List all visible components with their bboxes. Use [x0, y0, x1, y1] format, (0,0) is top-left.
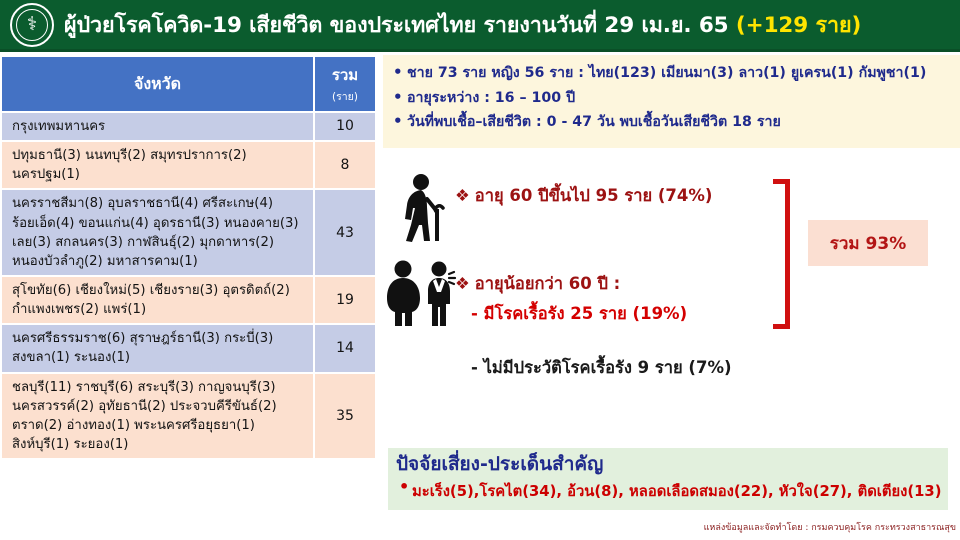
age-over-60-line: ❖อายุ 60 ปีขึ้นไป 95 ราย (74%) — [455, 183, 712, 209]
age-under-60-label: อายุน้อยกว่า 60 ปี : — [475, 274, 621, 293]
chronic-disease-line: - มีโรคเรื้อรัง 25 ราย (19%) — [471, 301, 687, 327]
demographics-summary-box: ชาย 73 ราย หญิง 56 ราย : ไทย(123) เมียนม… — [383, 55, 960, 148]
age-comorbidity-block: ❖อายุ 60 ปีขึ้นไป 95 ราย (74%) ❖อายุน้อย… — [383, 165, 960, 440]
page-header: ⚕ ผู้ป่วยโรคโควิด-19 เสียชีวิต ของประเทศ… — [0, 0, 960, 52]
grouping-bracket — [773, 179, 790, 329]
elderly-person-with-cane-icon — [391, 173, 449, 243]
moph-caduceus-logo-icon: ⚕ — [10, 3, 54, 47]
summary-bullet-sex-nationality: ชาย 73 ราย หญิง 56 ราย : ไทย(123) เมียนม… — [389, 63, 956, 84]
risk-factors-list: มะเร็ง(5),โรคไต(34), อ้วน(8), หลอดเลือดส… — [396, 479, 942, 503]
table-cell-total: 8 — [315, 142, 375, 188]
column-header-total: รวม (ราย) — [315, 57, 375, 111]
table-row: กรุงเทพมหานคร 10 — [2, 113, 375, 140]
right-panel: ชาย 73 ราย หญิง 56 ราย : ไทย(123) เมียนม… — [383, 55, 960, 540]
table-row: นครศรีธรรมราช(6) สุราษฎร์ธานี(3) กระบี่(… — [2, 325, 375, 371]
table-cell-provinces: นครราชสีมา(8) อุบลราชธานี(4) ศรีสะเกษ(4)… — [2, 190, 313, 275]
table-cell-provinces: สุโขทัย(6) เชียงใหม่(5) เชียงราย(3) อุตร… — [2, 277, 313, 323]
table-cell-total: 43 — [315, 190, 375, 275]
source-credit: แหล่งข้อมูลและจัดทำโดย : กรมควบคุมโรค กร… — [383, 520, 956, 534]
table-cell-total: 14 — [315, 325, 375, 371]
no-chronic-disease-line: - ไม่มีประวัติโรคเรื้อรัง 9 ราย (7%) — [471, 355, 732, 381]
table-header-row: จังหวัด รวม (ราย) — [2, 57, 375, 111]
page-title-delta-count: (+129 ราย) — [736, 13, 861, 38]
risk-factors-panel: ปัจจัยเสี่ยง-ประเด็นสำคัญ มะเร็ง(5),โรคไ… — [388, 448, 948, 510]
table-cell-provinces: ชลบุรี(11) ราชบุรี(6) สระบุรี(3) กาญจนบุ… — [2, 374, 313, 459]
risk-factors-item: มะเร็ง(5),โรคไต(34), อ้วน(8), หลอดเลือดส… — [396, 479, 942, 503]
obese-and-coughing-person-icon — [383, 260, 463, 328]
table-cell-total: 19 — [315, 277, 375, 323]
page-title-main: ผู้ป่วยโรคโควิด-19 เสียชีวิต ของประเทศไท… — [64, 13, 736, 38]
table-cell-total: 10 — [315, 113, 375, 140]
age-over-60-label: อายุ 60 ปีขึ้นไป 95 ราย (74%) — [475, 186, 713, 205]
age-under-60-line: ❖อายุน้อยกว่า 60 ปี : — [455, 271, 620, 297]
table-cell-provinces: นครศรีธรรมราช(6) สุราษฎร์ธานี(3) กระบี่(… — [2, 325, 313, 371]
column-header-province-label: จังหวัด — [134, 74, 181, 93]
risk-factors-heading: ปัจจัยเสี่ยง-ประเด็นสำคัญ — [396, 453, 942, 476]
table-cell-provinces: ปทุมธานี(3) นนทบุรี(2) สมุทรปราการ(2) นค… — [2, 142, 313, 188]
table-row: ปทุมธานี(3) นนทบุรี(2) สมุทรปราการ(2) นค… — [2, 142, 375, 188]
column-header-total-unit: (ราย) — [317, 88, 373, 105]
combined-total-box: รวม 93% — [808, 220, 928, 266]
diamond-bullet-icon: ❖ — [455, 186, 470, 205]
combined-total-label: รวม 93% — [830, 230, 907, 257]
province-death-table: จังหวัด รวม (ราย) กรุงเทพมหานคร 10 ปทุมธ… — [0, 55, 377, 460]
demographics-summary-list: ชาย 73 ราย หญิง 56 ราย : ไทย(123) เมียนม… — [389, 63, 956, 133]
column-header-total-label: รวม — [332, 66, 358, 84]
table-cell-provinces: กรุงเทพมหานคร — [2, 113, 313, 140]
table-cell-total: 35 — [315, 374, 375, 459]
summary-bullet-infection-to-death: วันที่พบเชื้อ–เสียชีวิต : 0 - 47 วัน พบเ… — [389, 112, 956, 133]
summary-bullet-age-range: อายุระหว่าง : 16 – 100 ปี — [389, 88, 956, 109]
table-row: ชลบุรี(11) ราชบุรี(6) สระบุรี(3) กาญจนบุ… — [2, 374, 375, 459]
table-row: สุโขทัย(6) เชียงใหม่(5) เชียงราย(3) อุตร… — [2, 277, 375, 323]
diamond-bullet-icon: ❖ — [455, 274, 470, 293]
table-row: นครราชสีมา(8) อุบลราชธานี(4) ศรีสะเกษ(4)… — [2, 190, 375, 275]
page-title: ผู้ป่วยโรคโควิด-19 เสียชีวิต ของประเทศไท… — [64, 8, 861, 42]
column-header-province: จังหวัด — [2, 57, 313, 111]
